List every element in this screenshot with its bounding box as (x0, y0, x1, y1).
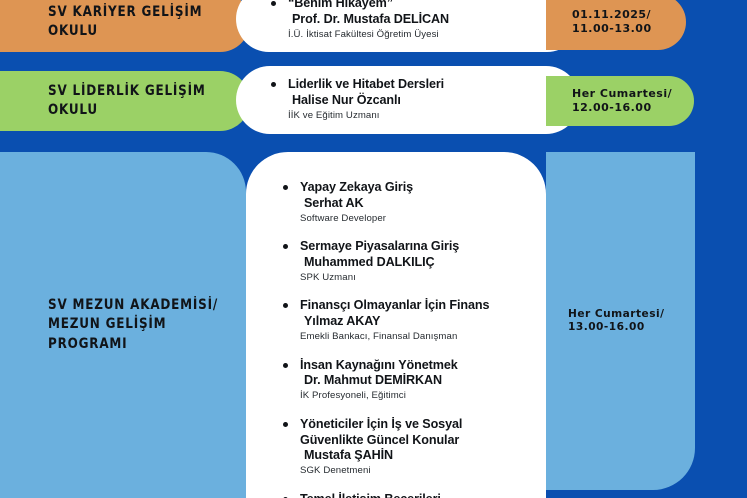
session-speaker: Mustafa ŞAHİN (300, 448, 528, 464)
session-title: Sermaye Piyasalarına Giriş (300, 239, 528, 255)
session-card-liderlik: Liderlik ve Hitabet Dersleri Halise Nur … (236, 66, 580, 134)
category-label: SV KARİYER GELİŞİM OKULU (48, 3, 217, 41)
session-title: Yöneticiler İçin İş ve Sosyal Güvenlikte… (300, 417, 528, 449)
session-speaker: Prof. Dr. Mustafa DELİCAN (288, 12, 449, 28)
list-item: Finansçı Olmayanlar İçin Finans Yılmaz A… (282, 298, 528, 343)
schedule-text: Her Cumartesi/ 12.00-16.00 (572, 87, 672, 115)
session-role: SGK Denetmeni (300, 465, 528, 477)
session-speaker: Yılmaz AKAY (300, 314, 528, 330)
list-item: Yapay Zekaya Giriş Serhat AK Software De… (282, 180, 528, 225)
session-speaker: Halise Nur Özcanlı (288, 93, 444, 109)
session-title: Temel İletişim Becerileri (300, 492, 528, 498)
session-role: İ.Ü. İktisat Fakültesi Öğretim Üyesi (288, 29, 449, 41)
bullet-icon (283, 422, 288, 427)
bullet-icon (283, 363, 288, 368)
bullet-icon (283, 244, 288, 249)
session-role: SPK Uzmanı (300, 272, 528, 284)
bullet-icon (283, 303, 288, 308)
session-title: İnsan Kaynağını Yönetmek (300, 358, 528, 374)
schedule-pill-liderlik: Her Cumartesi/ 12.00-16.00 (546, 76, 694, 126)
category-label: SV LİDERLİK GELİŞİM OKULU (48, 82, 217, 120)
session-title: Liderlik ve Hitabet Dersleri (288, 77, 444, 93)
session-speaker: Serhat AK (300, 196, 528, 212)
bullet-icon (271, 82, 276, 87)
session-speaker: Muhammed DALKILIÇ (300, 255, 528, 271)
session-title: Finansçı Olmayanlar İçin Finans (300, 298, 528, 314)
session-role: İK Profesyoneli, Eğitimci (300, 390, 528, 402)
category-panel-mezun-akademisi: SV MEZUN AKADEMİSİ/ MEZUN GELİŞİM PROGRA… (0, 152, 246, 498)
session-card-mezun: Yapay Zekaya Giriş Serhat AK Software De… (246, 152, 546, 498)
category-pill-kariyer-gelisim-okulu: SV KARİYER GELİŞİM OKULU (0, 0, 250, 52)
list-item: İnsan Kaynağını Yönetmek Dr. Mahmut DEMİ… (282, 358, 528, 403)
bullet-icon (283, 185, 288, 190)
session-title: Yapay Zekaya Giriş (300, 180, 528, 196)
list-item: Yöneticiler İçin İş ve Sosyal Güvenlikte… (282, 417, 528, 478)
schedule-text: 01.11.2025/ 11.00-13.00 (572, 8, 652, 36)
session-card-kariyer: “Benim Hikayem” Prof. Dr. Mustafa DELİCA… (236, 0, 580, 52)
schedule-pill-kariyer: 01.11.2025/ 11.00-13.00 (546, 0, 686, 50)
session-role: İİK ve Eğitim Uzmanı (288, 110, 444, 122)
list-item: Liderlik ve Hitabet Dersleri Halise Nur … (270, 77, 444, 122)
session-role: Software Developer (300, 213, 528, 225)
category-pill-liderlik-gelisim-okulu: SV LİDERLİK GELİŞİM OKULU (0, 71, 250, 131)
schedule-panel-mezun: Her Cumartesi/ 13.00-16.00 (546, 152, 695, 490)
program-poster: SV KARİYER GELİŞİM OKULU “Benim Hikayem”… (0, 0, 747, 498)
session-role: Emekli Bankacı, Finansal Danışman (300, 331, 528, 343)
list-item: “Benim Hikayem” Prof. Dr. Mustafa DELİCA… (270, 0, 449, 42)
session-speaker: Dr. Mahmut DEMİRKAN (300, 373, 528, 389)
schedule-text: Her Cumartesi/ 13.00-16.00 (568, 308, 664, 334)
session-title: “Benim Hikayem” (288, 0, 449, 12)
bullet-icon (271, 1, 276, 6)
list-item: Temel İletişim Becerileri Şükrullah DOLU… (282, 492, 528, 498)
category-label: SV MEZUN AKADEMİSİ/ MEZUN GELİŞİM PROGRA… (48, 296, 223, 353)
list-item: Sermaye Piyasalarına Giriş Muhammed DALK… (282, 239, 528, 284)
